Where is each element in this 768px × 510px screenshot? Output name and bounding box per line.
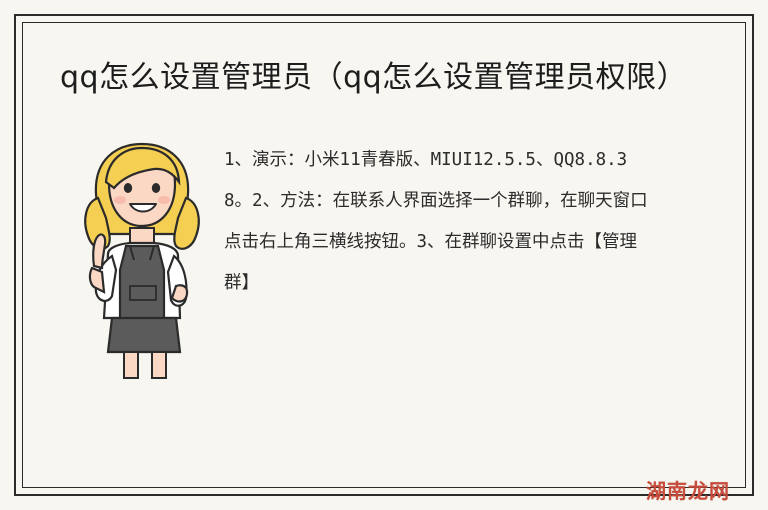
cartoon-woman-pointing-up-icon	[68, 136, 218, 386]
page-title: qq怎么设置管理员（qq怎么设置管理员权限）	[60, 56, 700, 100]
article-content: qq怎么设置管理员（qq怎么设置管理员权限）	[22, 22, 746, 488]
article-body-area: 1、演示：小米11青春版、MIUI12.5.5、QQ8.8.38。2、方法：在联…	[60, 136, 708, 386]
article-paragraph: 1、演示：小米11青春版、MIUI12.5.5、QQ8.8.38。2、方法：在联…	[218, 136, 654, 304]
watermark-container: 湖南龙网	[594, 470, 754, 510]
watermark-text: 湖南龙网	[646, 475, 730, 504]
article-page: qq怎么设置管理员（qq怎么设置管理员权限）	[0, 0, 768, 510]
